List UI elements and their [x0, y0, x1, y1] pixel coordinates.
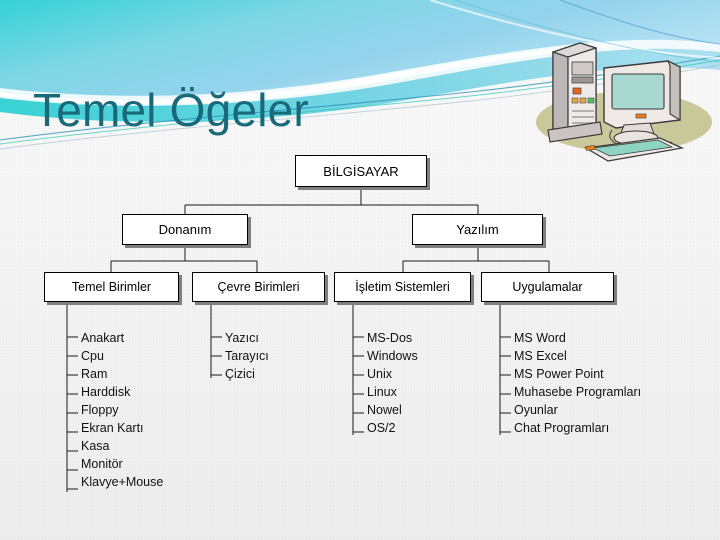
leaf-list-isletim-sistemleri: MS-Dos Windows Unix Linux Nowel OS/2	[367, 329, 418, 437]
list-item: Nowel	[367, 401, 418, 419]
node-root-bilgisayar[interactable]: BİLGİSAYAR	[295, 155, 427, 187]
list-item: Ram	[81, 365, 163, 383]
list-item: Chat Programları	[514, 419, 641, 437]
list-item: OS/2	[367, 419, 418, 437]
list-item: MS Excel	[514, 347, 641, 365]
node-yazilim[interactable]: Yazılım	[412, 214, 543, 245]
list-item: MS-Dos	[367, 329, 418, 347]
node-label: Çevre Birimleri	[218, 280, 300, 294]
node-donanim[interactable]: Donanım	[122, 214, 248, 245]
list-item: Windows	[367, 347, 418, 365]
list-item: Tarayıcı	[225, 347, 269, 365]
list-item: Unix	[367, 365, 418, 383]
node-isletim-sistemleri[interactable]: İşletim Sistemleri	[334, 272, 471, 302]
list-item: Monitör	[81, 455, 163, 473]
node-label: İşletim Sistemleri	[355, 280, 449, 294]
node-uygulamalar[interactable]: Uygulamalar	[481, 272, 614, 302]
org-chart-diagram: BİLGİSAYAR Donanım Yazılım Temel Birimle…	[0, 0, 720, 540]
node-label: Yazılım	[456, 222, 498, 237]
list-item: Floppy	[81, 401, 163, 419]
list-item: Çizici	[225, 365, 269, 383]
node-temel-birimler[interactable]: Temel Birimler	[44, 272, 179, 302]
list-item: MS Power Point	[514, 365, 641, 383]
node-cevre-birimleri[interactable]: Çevre Birimleri	[192, 272, 325, 302]
leaf-list-temel-birimler: Anakart Cpu Ram Harddisk Floppy Ekran Ka…	[81, 329, 163, 491]
list-item: Cpu	[81, 347, 163, 365]
node-label: Uygulamalar	[512, 280, 582, 294]
leaf-list-uygulamalar: MS Word MS Excel MS Power Point Muhasebe…	[514, 329, 641, 437]
list-item: MS Word	[514, 329, 641, 347]
list-item: Muhasebe Programları	[514, 383, 641, 401]
node-label: BİLGİSAYAR	[323, 164, 398, 179]
list-item: Kasa	[81, 437, 163, 455]
list-item: Anakart	[81, 329, 163, 347]
list-item: Klavye+Mouse	[81, 473, 163, 491]
list-item: Yazıcı	[225, 329, 269, 347]
node-label: Temel Birimler	[72, 280, 151, 294]
presentation-slide: Temel Öğeler	[0, 0, 720, 540]
leaf-list-cevre-birimleri: Yazıcı Tarayıcı Çizici	[225, 329, 269, 383]
list-item: Oyunlar	[514, 401, 641, 419]
list-item: Harddisk	[81, 383, 163, 401]
list-item: Ekran Kartı	[81, 419, 163, 437]
node-label: Donanım	[159, 222, 212, 237]
list-item: Linux	[367, 383, 418, 401]
